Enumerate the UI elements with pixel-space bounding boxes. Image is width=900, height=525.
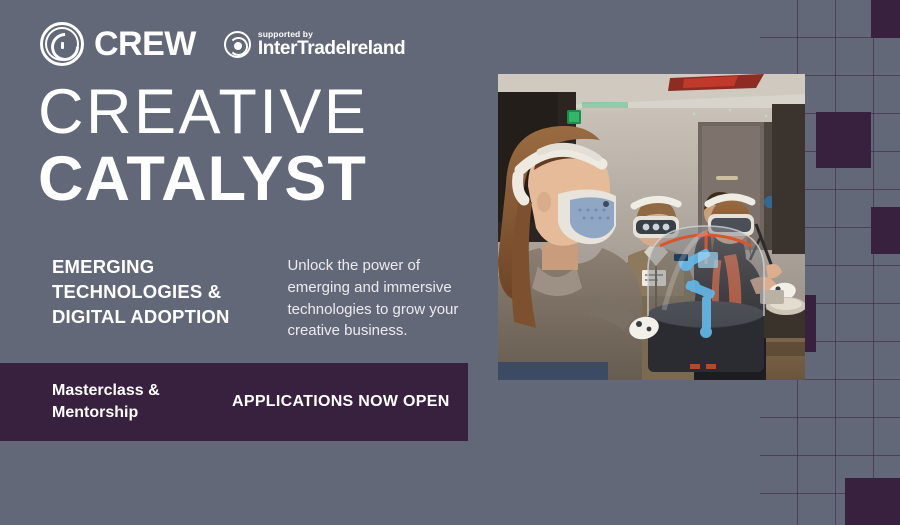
supported-by-label: supported by: [258, 30, 405, 39]
banner-applications-label: APPLICATIONS NOW OPEN: [232, 391, 450, 413]
crew-circle-icon: [40, 22, 84, 66]
crew-logo: CREW: [40, 22, 196, 66]
intertradeireland-wordmark: InterTradeIreland: [258, 39, 405, 58]
grid-filled-cell: [871, 0, 900, 38]
grid-filled-cell: [816, 112, 871, 168]
subhead-text: EMERGING TECHNOLOGIES & DIGITAL ADOPTION: [52, 255, 271, 342]
poster-canvas: CREW supported by InterTradeIreland CREA…: [0, 0, 900, 525]
subhead-section: EMERGING TECHNOLOGIES & DIGITAL ADOPTION…: [52, 255, 472, 342]
headline-line-2: CATALYST: [38, 148, 368, 211]
crew-wordmark: CREW: [94, 27, 196, 61]
event-photo-illustration: [498, 74, 805, 380]
logo-row: CREW supported by InterTradeIreland: [40, 22, 405, 66]
event-photo: [498, 74, 805, 380]
grid-filled-cell: [871, 207, 900, 254]
body-copy: Unlock the power of emerging and immersi…: [287, 255, 472, 342]
grid-filled-cell: [845, 478, 900, 525]
applications-banner: Masterclass & Mentorship APPLICATIONS NO…: [0, 363, 468, 441]
page-title: CREATIVE CATALYST: [38, 82, 368, 211]
intertradeireland-spiral-icon: [224, 31, 251, 58]
headline-line-1: CREATIVE: [38, 82, 368, 144]
intertradeireland-logo: supported by InterTradeIreland: [224, 30, 405, 59]
banner-programme-label: Masterclass & Mentorship: [52, 380, 232, 423]
